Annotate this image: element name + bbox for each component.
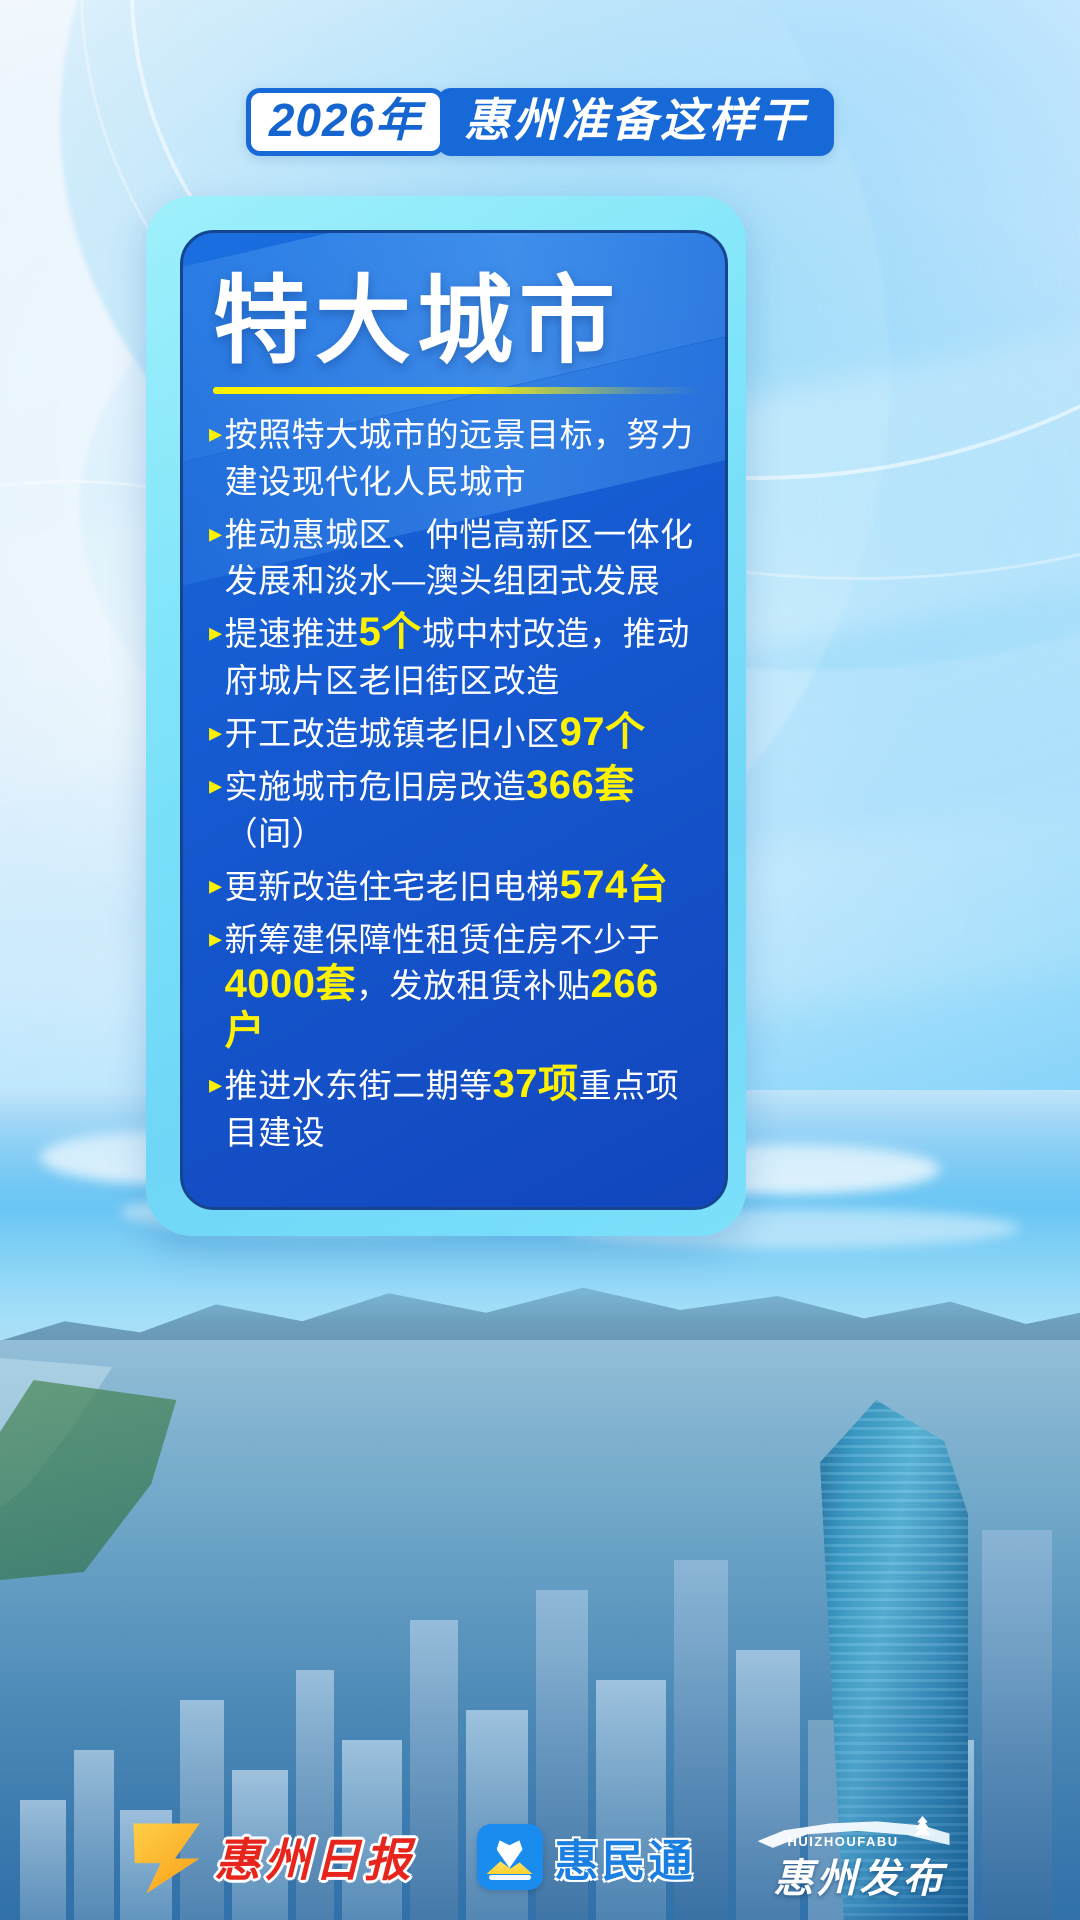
bullet-item-text: 推动惠城区、仲恺高新区一体化发展和淡水—澳头组团式发展: [225, 512, 697, 606]
logo-huizhoufabu[interactable]: HUIZHOUFABU 惠州发布: [758, 1816, 950, 1898]
bullet-item: ▸开工改造城镇老旧小区97个: [209, 711, 697, 758]
bullet-text-segment: 新筹建保障性租赁住房不少于: [225, 921, 661, 958]
logo-label-huizhou-daily: 惠州日报: [215, 1824, 415, 1890]
logo-label-huimintong: 惠民通: [555, 1825, 696, 1889]
highlight-number: 574台: [560, 863, 669, 907]
bullet-text-segment: 更新改造住宅老旧电梯: [225, 868, 560, 905]
bullet-item-text: 开工改造城镇老旧小区97个: [225, 711, 697, 758]
bullet-text-segment: 推动惠城区、仲恺高新区一体化发展和淡水—澳头组团式发展: [225, 516, 694, 600]
bullet-item-text: 实施城市危旧房改造366套（间）: [225, 764, 697, 858]
bullet-marker-icon: ▸: [209, 412, 223, 454]
bullet-item: ▸按照特大城市的远景目标，努力建设现代化人民城市: [209, 412, 697, 506]
title-divider: [213, 387, 701, 394]
bullet-marker-icon: ▸: [209, 764, 223, 806]
bullet-item: ▸更新改造住宅老旧电梯574台: [209, 864, 697, 911]
bullet-marker-icon: ▸: [209, 611, 223, 653]
bullet-item: ▸实施城市危旧房改造366套（间）: [209, 764, 697, 858]
bullet-item: ▸新筹建保障性租赁住房不少于4000套，发放租赁补贴266户: [209, 917, 697, 1058]
highlight-number: 366套: [526, 763, 635, 807]
bullet-marker-icon: ▸: [209, 917, 223, 959]
bullet-text-segment: 推进水东街二期等: [225, 1067, 493, 1104]
footer-logo-row: 惠州日报 惠民通 HUIZHOUFABU 惠州发布: [0, 1816, 1080, 1898]
logo-label-huizhoufabu: 惠州发布: [774, 1846, 946, 1904]
header-slogan-badge: 惠州准备这样干: [437, 88, 834, 156]
info-card-panel: 特大城市 ▸按照特大城市的远景目标，努力建设现代化人民城市▸推动惠城区、仲恺高新…: [180, 230, 728, 1210]
highlight-number: 97个: [560, 710, 646, 754]
bullet-marker-icon: ▸: [209, 864, 223, 906]
photo-greenbelt: [0, 1380, 420, 1580]
header-banner: 2026年 惠州准备这样干: [0, 88, 1080, 156]
bullet-item: ▸推进水东街二期等37项重点项目建设: [209, 1063, 697, 1157]
highlight-number: 37项: [493, 1062, 579, 1106]
bullet-text-segment: 开工改造城镇老旧小区: [225, 715, 560, 752]
bullet-marker-icon: ▸: [209, 1063, 223, 1105]
bullet-marker-icon: ▸: [209, 711, 223, 753]
bullet-item-text: 更新改造住宅老旧电梯574台: [225, 864, 697, 911]
bullet-marker-icon: ▸: [209, 512, 223, 554]
bullet-text-segment: 提速推进: [225, 615, 359, 652]
logo-huimintong[interactable]: 惠民通: [477, 1824, 696, 1890]
highlight-number: 4000套: [225, 962, 356, 1006]
bullet-text-segment: 实施城市危旧房改造: [225, 768, 527, 805]
logo-huizhou-daily[interactable]: 惠州日报: [131, 1819, 415, 1895]
bullet-item: ▸提速推进5个城中村改造，推动府城片区老旧街区改造: [209, 611, 697, 705]
highlight-number: 5个: [359, 610, 422, 654]
bullet-text-segment: （间）: [225, 815, 326, 852]
bullet-text-segment: ，发放租赁补贴: [356, 967, 591, 1004]
page-title: 特大城市: [213, 273, 697, 371]
hzrb-flame-icon: [131, 1819, 203, 1895]
hmt-app-icon: [477, 1824, 543, 1890]
header-badge: 2026年 惠州准备这样干: [246, 88, 834, 156]
bullet-item-text: 按照特大城市的远景目标，努力建设现代化人民城市: [225, 412, 697, 506]
bullet-list: ▸按照特大城市的远景目标，努力建设现代化人民城市▸推动惠城区、仲恺高新区一体化发…: [209, 412, 697, 1157]
bullet-item-text: 推进水东街二期等37项重点项目建设: [225, 1063, 697, 1157]
bullet-item: ▸推动惠城区、仲恺高新区一体化发展和淡水—澳头组团式发展: [209, 512, 697, 606]
header-year-badge: 2026年: [246, 88, 445, 156]
bullet-text-segment: 按照特大城市的远景目标，努力建设现代化人民城市: [225, 416, 694, 500]
info-card: 特大城市 ▸按照特大城市的远景目标，努力建设现代化人民城市▸推动惠城区、仲恺高新…: [146, 196, 746, 1236]
bullet-item-text: 新筹建保障性租赁住房不少于4000套，发放租赁补贴266户: [225, 917, 697, 1058]
bullet-item-text: 提速推进5个城中村改造，推动府城片区老旧街区改造: [225, 611, 697, 705]
